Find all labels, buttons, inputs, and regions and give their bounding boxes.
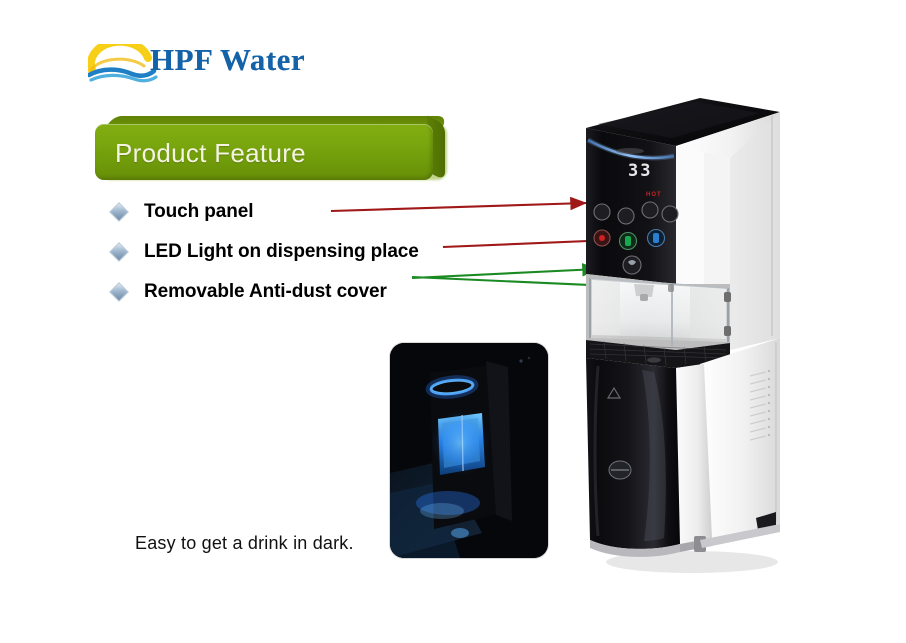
led-night-photo: [390, 343, 548, 558]
logo-text: HPF Water: [150, 42, 305, 78]
list-item: LED Light on dispensing place: [112, 235, 532, 269]
slide-canvas: HPF Water Product Feature Touch panel LE…: [0, 0, 906, 643]
hot-label: HOT: [646, 192, 662, 198]
temperature-icon[interactable]: [618, 208, 634, 224]
photo-caption: Easy to get a drink in dark.: [135, 533, 354, 554]
temperature-display: 33: [628, 161, 652, 181]
feature-label-touch-panel: Touch panel: [144, 201, 253, 223]
product-feature-banner: Product Feature: [95, 116, 445, 176]
feature-label-led-light: LED Light on dispensing place: [144, 241, 419, 263]
snowflake-icon[interactable]: [642, 202, 658, 218]
diamond-bullet-icon: [109, 202, 129, 222]
dispenser-art: 33 HOT: [580, 88, 810, 598]
led-night-photo-art: [390, 343, 548, 558]
lock-icon[interactable]: [594, 204, 610, 220]
page-title: Product Feature: [115, 138, 306, 169]
feature-list: Touch panel LED Light on dispensing plac…: [112, 195, 532, 315]
list-item: Removable Anti-dust cover: [112, 275, 532, 309]
list-item: Touch panel: [112, 195, 532, 229]
brand-logo: HPF Water: [88, 40, 298, 88]
cup-icon[interactable]: [662, 206, 678, 222]
diamond-bullet-icon: [109, 242, 129, 262]
feature-label-antidust-cover: Removable Anti-dust cover: [144, 281, 387, 303]
diamond-bullet-icon: [109, 282, 129, 302]
water-dispenser-product-photo: 33 HOT: [580, 88, 810, 598]
display-value: 33: [628, 161, 652, 181]
